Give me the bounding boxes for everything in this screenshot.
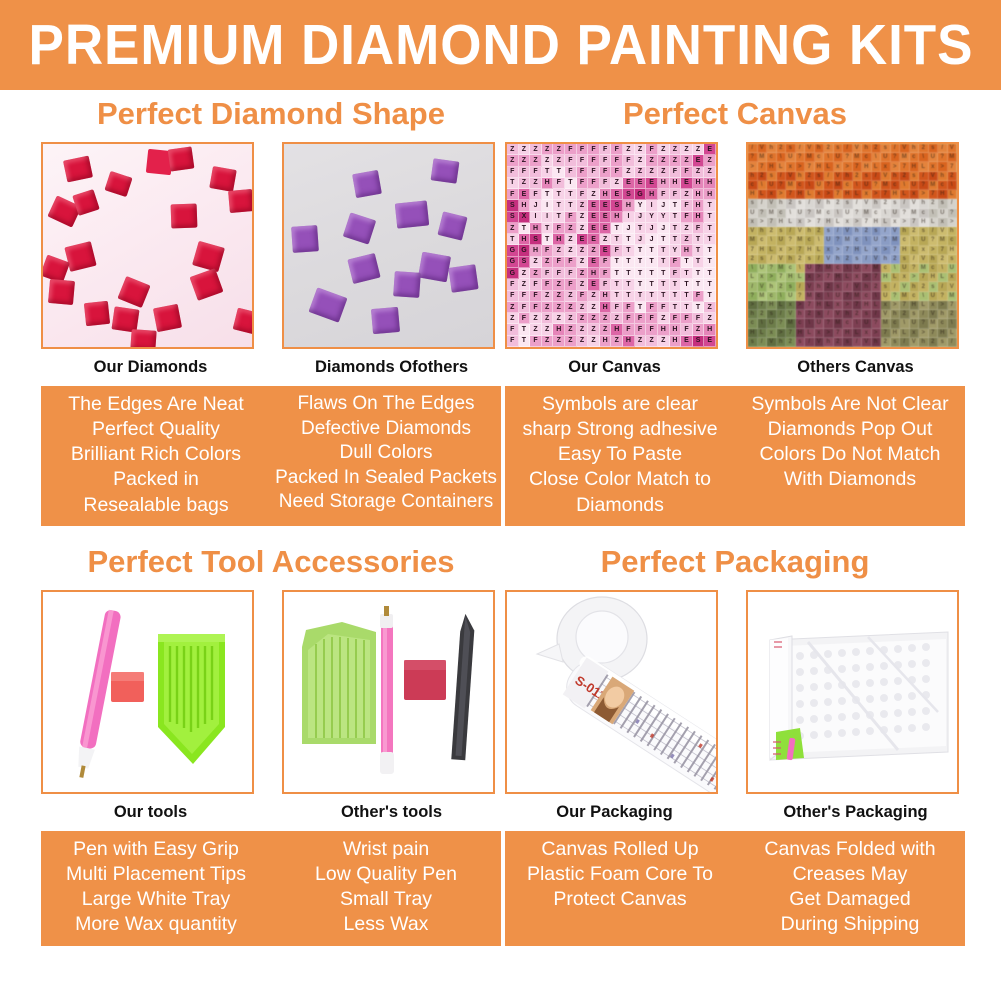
others-canvas-cell: 7 <box>910 218 920 227</box>
canvas-symbol-cell: G <box>519 245 531 256</box>
canvas-symbol-cell: T <box>542 167 554 178</box>
section-title-tools: Perfect Tool Accessories <box>41 546 501 590</box>
textbox-diamond-shape: The Edges Are Neat Perfect Quality Brill… <box>41 386 501 526</box>
canvas-symbol-cell: F <box>681 324 693 335</box>
others-canvas-cell: s <box>938 338 948 347</box>
others-canvas-cell: h <box>881 255 891 264</box>
canvas-symbol-cell: T <box>658 234 670 245</box>
others-canvas-cell: U <box>910 181 920 190</box>
canvas-symbol-cell: F <box>646 313 658 324</box>
others-canvas-cell: / <box>929 227 939 236</box>
others-canvas-cell: L <box>948 190 958 199</box>
others-canvas-cell: \ <box>748 264 758 273</box>
canvas-symbol-cell: E <box>588 279 600 290</box>
others-canvas-cell: h <box>862 144 872 153</box>
canvas-symbol-cell: Z <box>530 257 542 268</box>
canvas-symbol-cell: F <box>565 279 577 290</box>
others-canvas-cell: \ <box>834 209 844 218</box>
others-canvas-cell: s <box>834 144 844 153</box>
others-canvas-cell: 2 <box>834 338 844 347</box>
others-canvas-cell: / <box>938 144 948 153</box>
canvas-symbol-cell: F <box>623 302 635 313</box>
canvas-symbol-cell: T <box>635 302 647 313</box>
page-header-band: PREMIUM DIAMOND PAINTING KITS <box>0 0 1001 90</box>
others-canvas-cell: M <box>758 292 768 301</box>
others-canvas-cell: L <box>938 273 948 282</box>
others-canvas-cell: s <box>824 227 834 236</box>
others-canvas-cell: x <box>777 246 787 255</box>
others-canvas-cell: s <box>872 227 882 236</box>
canvas-symbol-cell: T <box>507 178 519 189</box>
others-canvas-cell: h <box>843 310 853 319</box>
others-canvas-cell: M <box>805 292 815 301</box>
canvas-symbol-cell: T <box>658 291 670 302</box>
others-canvas-cell: V <box>910 338 920 347</box>
others-canvas-cell: 2 <box>919 282 929 291</box>
others-canvas-cell: 2 <box>767 227 777 236</box>
canvas-symbol-cell: T <box>611 257 623 268</box>
section-title-packaging: Perfect Packaging <box>505 546 965 590</box>
our-diamonds-photo <box>41 142 254 349</box>
others-canvas-cell: h <box>948 227 958 236</box>
canvas-symbol-cell: Z <box>600 324 612 335</box>
others-canvas-cell: U <box>900 264 910 273</box>
others-canvas-cell: x <box>900 273 910 282</box>
others-canvas-cell: / <box>777 172 787 181</box>
others-canvas-cell: M <box>881 181 891 190</box>
others-canvas-cell: c <box>948 236 958 245</box>
canvas-symbol-cell: I <box>542 200 554 211</box>
canvas-symbol-cell: Z <box>681 144 693 155</box>
others-canvas-cell: c <box>929 264 939 273</box>
others-canvas-cell: U <box>929 153 939 162</box>
others-canvas-cell: 7 <box>805 162 815 171</box>
others-canvas-blocks: /Vh2s/Vh2s/Vh2s/Vh2s/V?Mc\U?Mc\U?Mc\U?Mc… <box>748 144 957 347</box>
others-canvas-cell: U <box>938 209 948 218</box>
others-canvas-cell: ? <box>919 181 929 190</box>
canvas-symbol-cell: E <box>588 234 600 245</box>
others-canvas-cell: U <box>910 319 920 328</box>
others-canvas-cell: h <box>919 199 929 208</box>
others-canvas-cell: > <box>891 162 901 171</box>
others-canvas-cell: L <box>824 301 834 310</box>
others-canvas-cell: M <box>777 264 787 273</box>
others-canvas-cell: > <box>919 190 929 199</box>
others-canvas-cell: ? <box>796 153 806 162</box>
section-canvas: Perfect Canvas ZZZZZFFFFFZZFZZZZEZZZZZFF… <box>505 98 965 526</box>
canvas-symbol-cell: T <box>693 257 705 268</box>
others-canvas-cell: 7 <box>929 190 939 199</box>
others-canvas-cell: H <box>910 301 920 310</box>
others-canvas-cell: / <box>796 144 806 153</box>
others-canvas-cell: V <box>929 310 939 319</box>
canvas-symbol-cell: H <box>681 245 693 256</box>
canvas-symbol-cell: T <box>611 268 623 279</box>
others-canvas-cell: 7 <box>891 246 901 255</box>
canvas-symbol-cell: F <box>565 167 577 178</box>
canvas-symbol-cell: H <box>530 223 542 234</box>
others-canvas-cell: x <box>796 218 806 227</box>
others-canvas-cell: V <box>948 144 958 153</box>
others-canvas-cell: L <box>834 218 844 227</box>
canvas-symbol-cell: F <box>565 144 577 155</box>
canvas-symbol-cell: E <box>600 245 612 256</box>
canvas-symbol-cell: T <box>542 223 554 234</box>
canvas-symbol-cell: E <box>693 155 705 166</box>
canvas-symbol-cell: Z <box>577 268 589 279</box>
canvas-symbol-cell: T <box>507 234 519 245</box>
canvas-symbol-cell: Z <box>658 336 670 347</box>
others-canvas-cell: / <box>777 310 787 319</box>
others-canvas-cell: c <box>872 209 882 218</box>
canvas-symbol-cell: T <box>565 200 577 211</box>
others-canvas-cell: 7 <box>919 273 929 282</box>
canvas-symbol-cell: T <box>693 302 705 313</box>
others-canvas-cell: 2 <box>891 255 901 264</box>
others-canvas-cell: M <box>872 264 882 273</box>
canvas-symbol-cell: F <box>670 257 682 268</box>
canvas-symbol-cell: Z <box>577 279 589 290</box>
others-canvas-cell: V <box>853 282 863 291</box>
canvas-symbol-cell: E <box>646 178 658 189</box>
others-canvas-cell: ? <box>796 292 806 301</box>
others-canvas-cell: L <box>929 218 939 227</box>
others-canvas-cell: 7 <box>843 246 853 255</box>
others-canvas-cell: 2 <box>796 255 806 264</box>
canvas-symbol-cell: H <box>670 178 682 189</box>
canvas-symbol-cell: T <box>553 212 565 223</box>
others-canvas-cell: ? <box>824 319 834 328</box>
canvas-symbol-cell: T <box>519 324 531 335</box>
others-canvas-cell: H <box>929 273 939 282</box>
others-canvas-cell: 2 <box>872 282 882 291</box>
others-canvas-cell: U <box>881 153 891 162</box>
others-canvas-cell: 2 <box>853 172 863 181</box>
canvas-symbol-cell: E <box>577 234 589 245</box>
section-diamond-shape: Perfect Diamond Shape <box>41 98 501 526</box>
others-canvas-cell: c <box>900 236 910 245</box>
others-canvas-cell: V <box>862 338 872 347</box>
canvas-symbol-cell: Z <box>530 155 542 166</box>
canvas-symbol-cell: Z <box>577 245 589 256</box>
others-canvas-cell: s <box>929 144 939 153</box>
others-canvas-cell: > <box>919 329 929 338</box>
canvas-symbol-cell: T <box>704 279 716 290</box>
canvas-symbol-cell: S <box>530 234 542 245</box>
others-canvas-cell: ? <box>919 319 929 328</box>
caption-our-packaging: Our Packaging <box>505 803 724 822</box>
others-canvas-cell: M <box>948 292 958 301</box>
canvas-symbol-cell: Z <box>577 223 589 234</box>
canvas-symbol-cell: Y <box>658 212 670 223</box>
others-canvas-cell: V <box>786 172 796 181</box>
others-canvas-cell: x <box>919 246 929 255</box>
canvas-symbol-cell: Z <box>553 279 565 290</box>
canvas-symbol-cell: F <box>670 167 682 178</box>
others-canvas-cell: h <box>777 199 787 208</box>
others-canvas-cell: / <box>805 199 815 208</box>
canvas-symbol-cell: F <box>623 313 635 324</box>
others-canvas-cell: ? <box>891 292 901 301</box>
others-canvas-cell: H <box>834 273 844 282</box>
others-canvas-cell: c <box>786 264 796 273</box>
others-canvas-cell: / <box>805 338 815 347</box>
others-canvas-cell: > <box>872 190 882 199</box>
others-canvas-cell: s <box>891 199 901 208</box>
others-canvas-cell: x <box>843 218 853 227</box>
others-canvas-cell: ? <box>938 292 948 301</box>
others-canvas-cell: c <box>881 264 891 273</box>
others-canvas-cell: H <box>891 329 901 338</box>
canvas-symbol-cell: T <box>681 268 693 279</box>
canvas-symbol-cell: Z <box>658 144 670 155</box>
canvas-symbol-cell: H <box>623 336 635 347</box>
canvas-symbol-cell: T <box>611 234 623 245</box>
others-canvas-cell: V <box>900 282 910 291</box>
others-canvas-cell: / <box>767 255 777 264</box>
others-canvas-cell: V <box>834 310 844 319</box>
others-canvas-cell: h <box>900 227 910 236</box>
canvas-symbol-cell: E <box>681 178 693 189</box>
others-canvas-cell: 7 <box>938 246 948 255</box>
canvas-symbol-cell: E <box>623 178 635 189</box>
others-canvas-cell: s <box>881 144 891 153</box>
others-canvas-cell: M <box>853 292 863 301</box>
canvas-symbol-cell: Z <box>530 178 542 189</box>
canvas-symbol-cell: F <box>670 268 682 279</box>
canvas-symbol-cell: Z <box>553 144 565 155</box>
others-canvas-cell: h <box>843 172 853 181</box>
others-canvas-cell: x <box>938 218 948 227</box>
others-canvas-cell: / <box>834 227 844 236</box>
canvas-symbol-cell: E <box>611 189 623 200</box>
canvas-symbol-cell: Z <box>553 291 565 302</box>
section-title-diamond-shape: Perfect Diamond Shape <box>41 98 501 142</box>
others-canvas-cell: H <box>796 329 806 338</box>
caption-our-tools: Our tools <box>41 803 260 822</box>
others-canvas-cell: c <box>862 153 872 162</box>
others-canvas-cell: U <box>786 153 796 162</box>
others-canvas-cell: V <box>834 172 844 181</box>
others-canvas-cell: s <box>938 199 948 208</box>
canvas-symbol-cell: F <box>588 178 600 189</box>
other-packaging-photo <box>746 590 959 794</box>
canvas-symbol-cell: F <box>530 279 542 290</box>
canvas-symbol-cell: Z <box>565 245 577 256</box>
canvas-symbol-cell: Z <box>693 324 705 335</box>
others-canvas-cell: ? <box>843 292 853 301</box>
canvas-symbol-cell: Z <box>577 324 589 335</box>
others-canvas-cell: s <box>891 338 901 347</box>
bullets-our-diamonds: The Edges Are Neat Perfect Quality Brill… <box>41 392 271 518</box>
others-canvas-cell: > <box>777 190 787 199</box>
canvas-symbol-cell: E <box>681 336 693 347</box>
others-canvas-cell: V <box>910 199 920 208</box>
canvas-symbol-cell: F <box>542 245 554 256</box>
canvas-symbol-cell: F <box>600 144 612 155</box>
others-canvas-cell: H <box>843 329 853 338</box>
others-canvas-cell: x <box>910 190 920 199</box>
others-canvas-cell: L <box>796 273 806 282</box>
canvas-symbol-cell: E <box>519 189 531 200</box>
others-canvas-cell: V <box>929 172 939 181</box>
section-title-canvas: Perfect Canvas <box>505 98 965 142</box>
canvas-symbol-cell: H <box>670 324 682 335</box>
others-canvas-cell: s <box>815 310 825 319</box>
others-canvas-cell: h <box>872 338 882 347</box>
others-canvas-cell: h <box>824 199 834 208</box>
canvas-symbol-cell: J <box>530 200 542 211</box>
others-canvas-cell: s <box>796 338 806 347</box>
canvas-symbol-cell: Z <box>635 167 647 178</box>
others-canvas-cell: x <box>853 273 863 282</box>
canvas-symbol-cell: H <box>658 324 670 335</box>
others-canvas-cell: ? <box>748 153 758 162</box>
others-canvas-cell: 7 <box>948 162 958 171</box>
canvas-symbol-cell: Z <box>565 324 577 335</box>
canvas-symbol-cell: T <box>646 245 658 256</box>
others-canvas-cell: 7 <box>900 162 910 171</box>
others-canvas-cell: V <box>815 338 825 347</box>
others-canvas-cell: h <box>748 310 758 319</box>
others-canvas-cell: 7 <box>900 301 910 310</box>
canvas-symbol-cell: F <box>600 279 612 290</box>
compare-cell-others-canvas: /Vh2s/Vh2s/Vh2s/Vh2s/V?Mc\U?Mc\U?Mc\U?Mc… <box>746 142 965 377</box>
others-canvas-cell: 2 <box>862 227 872 236</box>
others-canvas-cell: H <box>948 246 958 255</box>
others-canvas-cell: s <box>881 282 891 291</box>
canvas-symbol-cell: T <box>670 212 682 223</box>
others-canvas-cell: \ <box>910 236 920 245</box>
others-canvas-cell: U <box>862 319 872 328</box>
canvas-symbol-cell: T <box>693 245 705 256</box>
bullets-other-packaging: Canvas Folded with Creases May Get Damag… <box>735 837 965 938</box>
canvas-symbol-cell: Z <box>600 234 612 245</box>
others-canvas-cell: h <box>862 282 872 291</box>
others-canvas-cell: 2 <box>824 282 834 291</box>
canvas-symbol-cell: T <box>553 189 565 200</box>
canvas-symbol-cell: T <box>658 245 670 256</box>
canvas-symbol-cell: H <box>611 212 623 223</box>
others-canvas-cell: s <box>834 282 844 291</box>
others-canvas-cell: \ <box>919 292 929 301</box>
others-canvas-cell: ? <box>748 292 758 301</box>
canvas-symbol-cell: Z <box>646 155 658 166</box>
canvas-symbol-cell: F <box>507 324 519 335</box>
others-canvas-cell: L <box>853 329 863 338</box>
others-canvas-cell: s <box>748 199 758 208</box>
others-canvas-cell: 2 <box>881 199 891 208</box>
others-canvas-cell: s <box>919 227 929 236</box>
others-canvas-cell: c <box>834 264 844 273</box>
caption-other-diamonds: Diamonds Ofothers <box>282 358 501 377</box>
our-packaging-illustration: S-011 <box>507 592 716 792</box>
others-canvas-cell: \ <box>948 181 958 190</box>
others-canvas-cell: > <box>767 273 777 282</box>
others-canvas-cell: L <box>777 162 787 171</box>
others-canvas-cell: x <box>748 218 758 227</box>
bullets-our-canvas: Symbols are clear sharp Strong adhesive … <box>505 392 735 518</box>
our-packaging-photo: S-011 <box>505 590 718 794</box>
page-title: PREMIUM DIAMOND PAINTING KITS <box>28 17 973 74</box>
canvas-symbol-cell: S <box>507 200 519 211</box>
bullets-our-packaging: Canvas Rolled Up Plastic Foam Core To Pr… <box>505 837 735 938</box>
canvas-symbol-cell: T <box>681 279 693 290</box>
others-canvas-cell: H <box>815 162 825 171</box>
section-packaging: Perfect Packaging <box>505 546 965 946</box>
others-canvas-cell: V <box>758 282 768 291</box>
others-canvas-cell: > <box>748 162 758 171</box>
others-canvas-cell: M <box>796 236 806 245</box>
canvas-symbol-cell: F <box>646 144 658 155</box>
canvas-symbol-cell: F <box>646 302 658 313</box>
canvas-symbol-cell: T <box>635 245 647 256</box>
others-canvas-cell: c <box>796 181 806 190</box>
canvas-symbol-cell: T <box>635 279 647 290</box>
canvas-symbol-cell: F <box>530 291 542 302</box>
others-canvas-cell: U <box>748 209 758 218</box>
others-canvas-cell: 2 <box>748 255 758 264</box>
others-canvas-cell: U <box>805 264 815 273</box>
others-canvas-cell: 7 <box>777 273 787 282</box>
others-canvas-cell: x <box>862 329 872 338</box>
others-canvas-cell: H <box>862 301 872 310</box>
others-canvas-cell: c <box>767 292 777 301</box>
canvas-symbol-cell: T <box>646 268 658 279</box>
canvas-symbol-cell: F <box>565 268 577 279</box>
canvas-symbol-cell: H <box>530 245 542 256</box>
canvas-symbol-cell: F <box>611 302 623 313</box>
textbox-tools: Pen with Easy Grip Multi Placement Tips … <box>41 831 501 946</box>
canvas-symbol-cell: F <box>681 313 693 324</box>
others-canvas-cell: / <box>872 172 882 181</box>
canvas-symbol-cell: T <box>623 279 635 290</box>
others-canvas-cell: L <box>881 218 891 227</box>
others-canvas-cell: x <box>929 301 939 310</box>
canvas-symbol-cell: Y <box>635 200 647 211</box>
caption-our-canvas: Our Canvas <box>505 358 724 377</box>
canvas-symbol-cell: H <box>693 200 705 211</box>
others-canvas-cell: H <box>758 246 768 255</box>
others-canvas-cell: > <box>824 329 834 338</box>
others-canvas-cell: 2 <box>900 172 910 181</box>
others-canvas-cell: H <box>767 301 777 310</box>
others-canvas-cell: h <box>815 282 825 291</box>
our-tools-illustration <box>43 592 252 792</box>
others-canvas-cell: M <box>834 181 844 190</box>
others-canvas-cell: 7 <box>758 162 768 171</box>
canvas-symbol-cell: Z <box>507 302 519 313</box>
canvas-symbol-cell: H <box>704 324 716 335</box>
others-canvas-cell: U <box>815 181 825 190</box>
canvas-symbol-cell: T <box>693 234 705 245</box>
others-canvas-cell: > <box>805 218 815 227</box>
canvas-symbol-cell: F <box>507 279 519 290</box>
others-canvas-cell: s <box>853 255 863 264</box>
canvas-symbol-cell: F <box>577 155 589 166</box>
others-canvas-cell: U <box>862 181 872 190</box>
others-canvas-cell: 2 <box>872 144 882 153</box>
canvas-symbol-cell: T <box>635 257 647 268</box>
others-canvas-cell: U <box>824 236 834 245</box>
others-canvas-cell: M <box>929 319 939 328</box>
canvas-symbol-cell: Z <box>530 324 542 335</box>
canvas-symbol-cell: Z <box>588 336 600 347</box>
canvas-symbol-cell: T <box>611 223 623 234</box>
others-canvas-cell: H <box>862 162 872 171</box>
others-canvas-cell: h <box>758 227 768 236</box>
others-canvas-cell: ? <box>910 264 920 273</box>
